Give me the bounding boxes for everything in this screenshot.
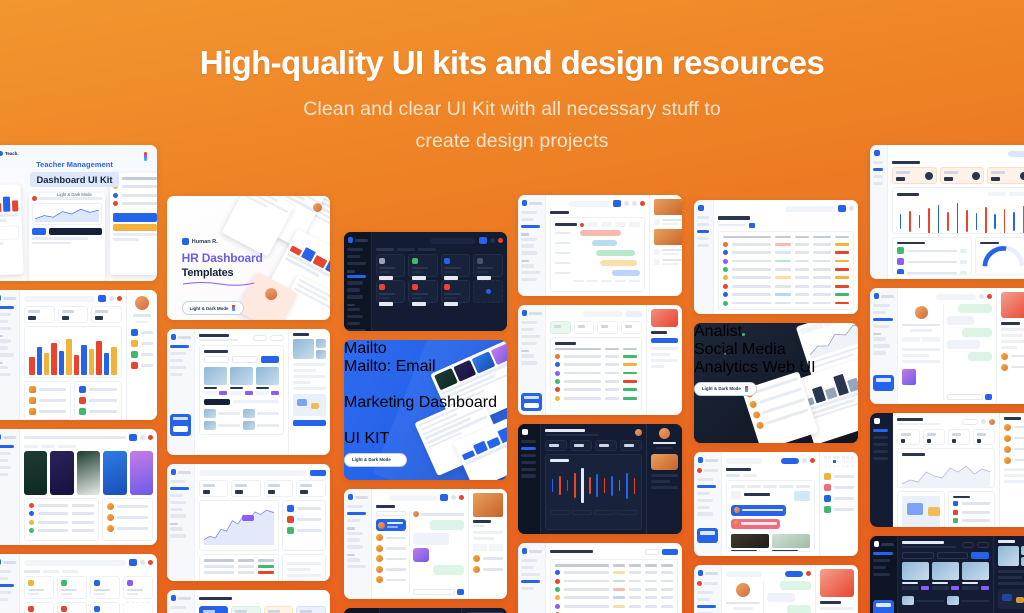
hr-brand: Human R. xyxy=(182,238,263,245)
card-calendar-gantt[interactable] xyxy=(518,195,682,296)
card-report-bars[interactable] xyxy=(167,590,330,613)
hr-title: HR Dashboard xyxy=(182,251,263,265)
card-messenger[interactable] xyxy=(344,489,507,599)
teacher-screen-left xyxy=(0,184,24,276)
card-mailto[interactable]: Mailto Mailto: Email Marketing Dashboard… xyxy=(344,340,507,480)
card-dark-real-estate[interactable] xyxy=(870,536,1024,613)
ui-kit-gallery: Teach. Teacher Management Dashboard UI K… xyxy=(0,0,1024,613)
figma-icon xyxy=(144,152,150,161)
card-scheduler-board[interactable] xyxy=(694,452,858,556)
card-crm-designer[interactable] xyxy=(518,543,682,613)
card-social-analytics[interactable]: Analist Social Media Analytics Web UI Li… xyxy=(694,323,858,443)
card-dark-apps-grid[interactable] xyxy=(344,232,507,331)
card-market-status[interactable] xyxy=(870,145,1024,279)
teach-logo-icon xyxy=(0,151,3,156)
teacher-cover: Teach. Teacher Management Dashboard UI K… xyxy=(0,145,157,281)
card-profile-chat[interactable] xyxy=(870,288,1024,404)
gallery-column-6 xyxy=(870,145,1024,613)
gallery-column-2: Human R. HR Dashboard Templates Light & … xyxy=(167,196,330,613)
card-analytics-bars[interactable] xyxy=(0,290,157,420)
card-revenue-report[interactable] xyxy=(167,464,330,581)
teacher-mode: Light & Dark Mode xyxy=(22,192,128,197)
figma-icon xyxy=(395,457,399,463)
card-dark-stock-chart[interactable] xyxy=(518,424,682,534)
card-candidates-table[interactable] xyxy=(694,200,858,314)
card-post-scheduler[interactable] xyxy=(344,608,507,613)
mailto-line3: UI KIT xyxy=(344,430,497,448)
card-team-status[interactable] xyxy=(518,305,682,415)
card-real-estate[interactable] xyxy=(167,329,330,455)
analist-subtitle: Analytics Web UI xyxy=(694,359,816,377)
analist-mode-badge[interactable]: Light & Dark Mode xyxy=(694,382,757,396)
card-analytics-map[interactable] xyxy=(870,413,1024,527)
card-hr-dashboard[interactable]: Human R. HR Dashboard Templates Light & … xyxy=(167,196,330,320)
gallery-column-3: Mailto Mailto: Email Marketing Dashboard… xyxy=(344,232,507,613)
hr-cover: Human R. HR Dashboard Templates Light & … xyxy=(167,196,330,320)
avatar xyxy=(313,203,322,212)
mailto-cover: Mailto Mailto: Email Marketing Dashboard… xyxy=(344,340,507,480)
card-creative-marketplace[interactable] xyxy=(0,429,157,545)
mailto-line1: Mailto: Email xyxy=(344,358,497,376)
hr-mode-badge[interactable]: Light & Dark Mode xyxy=(182,301,245,315)
hr-logo-icon xyxy=(182,238,189,245)
card-projects-list[interactable] xyxy=(0,554,157,613)
teacher-screen-center xyxy=(29,193,105,281)
hr-subtitle: Templates xyxy=(182,267,263,279)
card-teacher-management[interactable]: Teach. Teacher Management Dashboard UI K… xyxy=(0,145,157,281)
figma-icon xyxy=(232,305,236,311)
figma-icon xyxy=(745,386,749,392)
teacher-title: Teacher Management xyxy=(22,160,128,169)
mailto-line2: Marketing Dashboard xyxy=(344,394,497,412)
gallery-column-5: Analist Social Media Analytics Web UI Li… xyxy=(694,200,858,613)
teacher-subtitle: Dashboard UI Kit xyxy=(30,172,118,187)
mailto-brand: Mailto xyxy=(344,340,497,358)
analist-title: Social Media xyxy=(694,341,816,359)
card-contacts-chat[interactable] xyxy=(694,565,858,613)
analist-brand: Analist xyxy=(694,323,816,341)
gallery-column-1: Teach. Teacher Management Dashboard UI K… xyxy=(0,145,157,613)
mailto-mode-badge[interactable]: Light & Dark Mode xyxy=(344,453,407,467)
gallery-column-4 xyxy=(518,195,682,613)
analist-cover: Analist Social Media Analytics Web UI Li… xyxy=(694,323,858,443)
teach-brand: Teach. xyxy=(5,151,19,156)
